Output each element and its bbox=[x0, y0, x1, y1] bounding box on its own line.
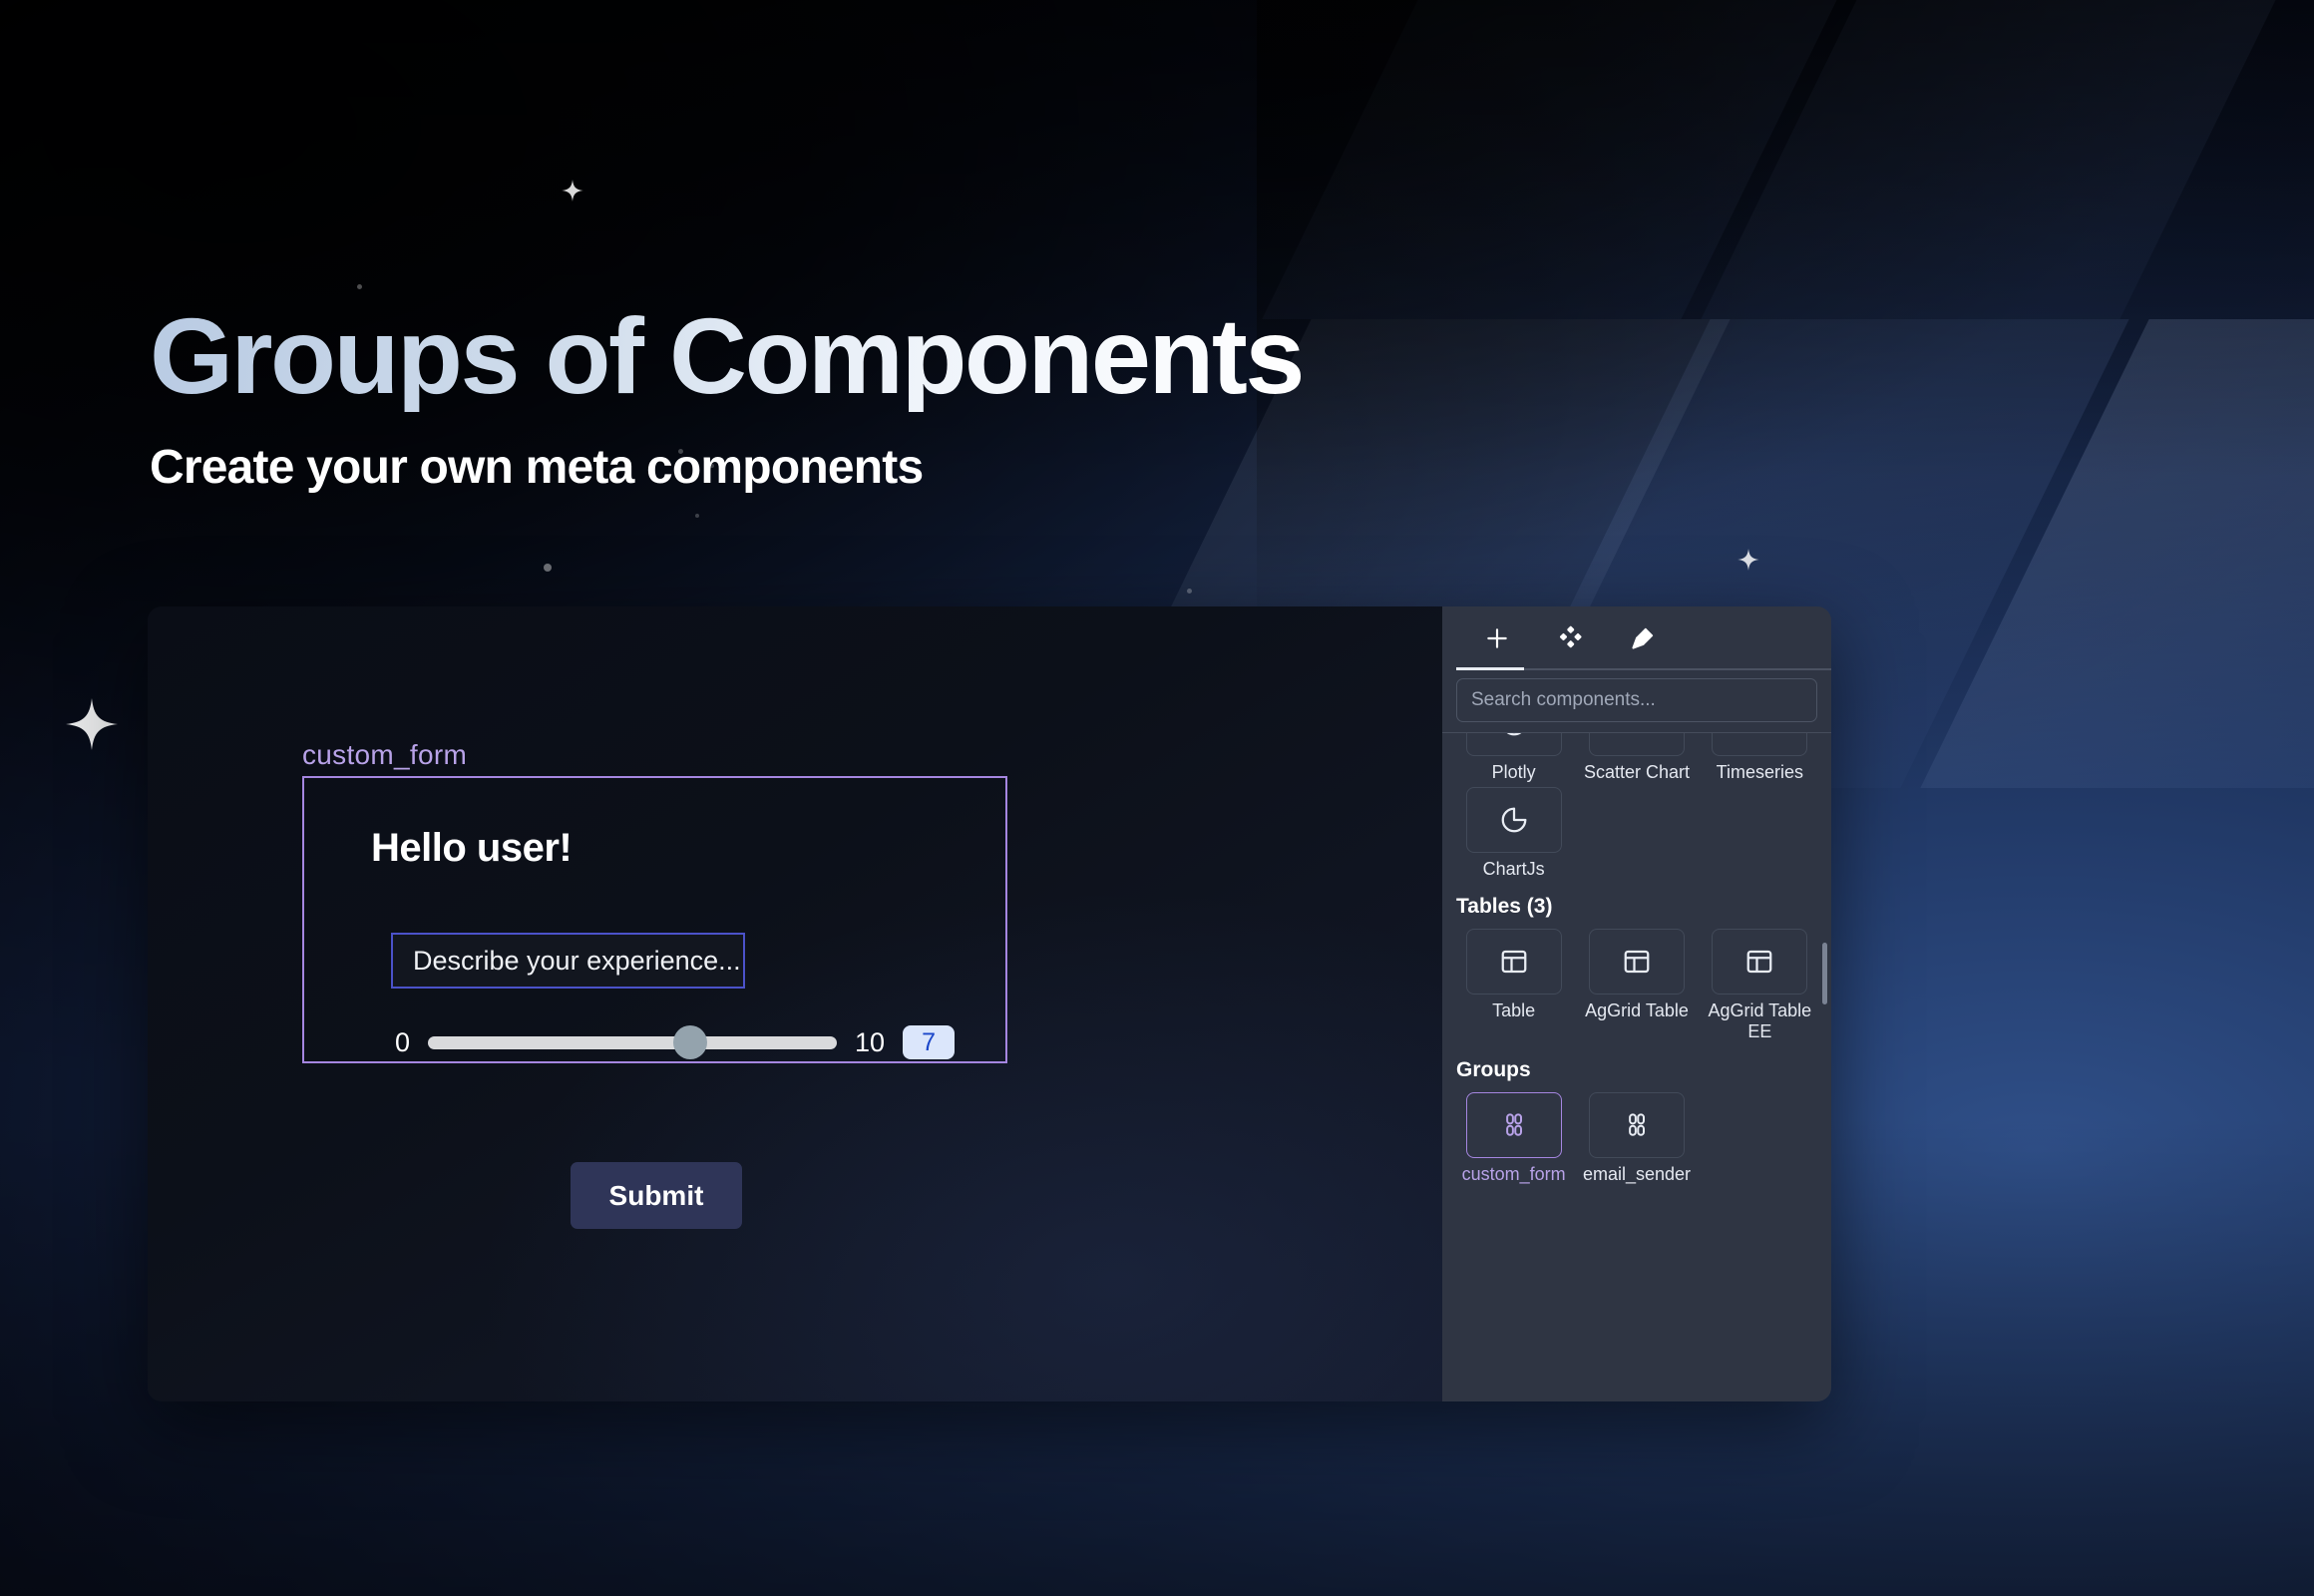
component-item-scatter-chart[interactable]: Scatter Chart bbox=[1579, 732, 1694, 783]
group-label: custom_form bbox=[1462, 1164, 1566, 1185]
component-label: AgGrid Table bbox=[1585, 1000, 1689, 1021]
page-subtitle: Create your own meta components bbox=[150, 440, 1303, 495]
tables-grid: Table AgGrid Table bbox=[1456, 929, 1817, 1041]
hero-section: Groups of Components Create your own met… bbox=[150, 299, 1303, 495]
component-item-chartjs[interactable]: ChartJs bbox=[1456, 787, 1571, 880]
component-item-timeseries[interactable]: Timeseries bbox=[1703, 732, 1817, 783]
tab-component-tree[interactable] bbox=[1533, 606, 1606, 670]
sparkle-dot-icon bbox=[1187, 589, 1192, 594]
sparkle-star-icon bbox=[1737, 549, 1759, 571]
page-root: Groups of Components Create your own met… bbox=[0, 0, 2314, 1596]
scatter-dots-icon bbox=[1589, 732, 1685, 756]
tab-styling[interactable] bbox=[1606, 606, 1679, 670]
component-item-aggrid-table-ee[interactable]: AgGrid Table EE bbox=[1703, 929, 1817, 1041]
component-label: Plotly bbox=[1492, 762, 1536, 783]
components-panel: Plotly Scatter Chart bbox=[1442, 606, 1831, 1401]
component-label: Timeseries bbox=[1717, 762, 1803, 783]
sparkle-star-icon bbox=[66, 698, 118, 750]
components-scroll-area[interactable]: Plotly Scatter Chart bbox=[1442, 732, 1831, 1401]
component-label: ChartJs bbox=[1483, 859, 1545, 880]
group-label: email_sender bbox=[1583, 1164, 1691, 1185]
sparkle-dot-icon bbox=[357, 284, 362, 289]
slider-max-label: 10 bbox=[855, 1027, 885, 1058]
component-label: Scatter Chart bbox=[1584, 762, 1690, 783]
pie-chart-icon bbox=[1466, 787, 1562, 853]
component-item-plotly[interactable]: Plotly bbox=[1456, 732, 1571, 783]
section-title-groups: Groups bbox=[1456, 1058, 1817, 1082]
canvas-heading: Hello user! bbox=[371, 826, 572, 871]
rating-slider[interactable]: 0 10 7 bbox=[395, 1025, 955, 1059]
table-icon bbox=[1589, 929, 1685, 995]
tab-add-component[interactable] bbox=[1460, 606, 1533, 670]
component-label: Table bbox=[1492, 1000, 1535, 1021]
slider-value-badge: 7 bbox=[903, 1025, 955, 1059]
table-icon bbox=[1466, 929, 1562, 995]
charts-grid: Plotly Scatter Chart bbox=[1456, 732, 1817, 879]
pie-chart-icon bbox=[1466, 732, 1562, 756]
search-container bbox=[1442, 670, 1831, 732]
paintbrush-icon bbox=[1630, 625, 1656, 651]
slider-thumb[interactable] bbox=[673, 1025, 707, 1059]
table-icon bbox=[1712, 929, 1807, 995]
slider-min-label: 0 bbox=[395, 1027, 410, 1058]
scatter-dots-icon bbox=[1712, 732, 1807, 756]
component-item-aggrid-table[interactable]: AgGrid Table bbox=[1579, 929, 1694, 1041]
experience-text-input[interactable]: Describe your experience... bbox=[391, 933, 745, 989]
canvas-group-name: custom_form bbox=[302, 739, 467, 771]
component-item-table[interactable]: Table bbox=[1456, 929, 1571, 1041]
panel-tab-bar bbox=[1442, 606, 1831, 670]
sparkle-dot-icon bbox=[544, 564, 552, 572]
group-boxes-icon bbox=[1466, 1092, 1562, 1158]
slider-track[interactable] bbox=[428, 1036, 837, 1049]
sparkle-dot-icon bbox=[695, 514, 699, 518]
group-item-email-sender[interactable]: email_sender bbox=[1579, 1092, 1694, 1185]
submit-button[interactable]: Submit bbox=[571, 1162, 742, 1229]
sparkle-star-icon bbox=[562, 180, 583, 201]
active-tab-indicator bbox=[1456, 667, 1524, 670]
experience-input-placeholder: Describe your experience... bbox=[413, 946, 741, 977]
component-label: AgGrid Table EE bbox=[1705, 1000, 1814, 1041]
section-title-tables: Tables (3) bbox=[1456, 895, 1817, 919]
groups-grid: custom_form email_s bbox=[1456, 1092, 1817, 1185]
components-diamond-icon bbox=[1557, 625, 1583, 651]
group-boxes-icon bbox=[1589, 1092, 1685, 1158]
plus-icon bbox=[1484, 625, 1510, 651]
group-item-custom-form[interactable]: custom_form bbox=[1456, 1092, 1571, 1185]
panel-scrollbar-thumb[interactable] bbox=[1822, 943, 1827, 1004]
page-title: Groups of Components bbox=[150, 299, 1303, 412]
canvas-group-container[interactable] bbox=[302, 776, 1007, 1063]
search-input[interactable] bbox=[1456, 678, 1817, 722]
